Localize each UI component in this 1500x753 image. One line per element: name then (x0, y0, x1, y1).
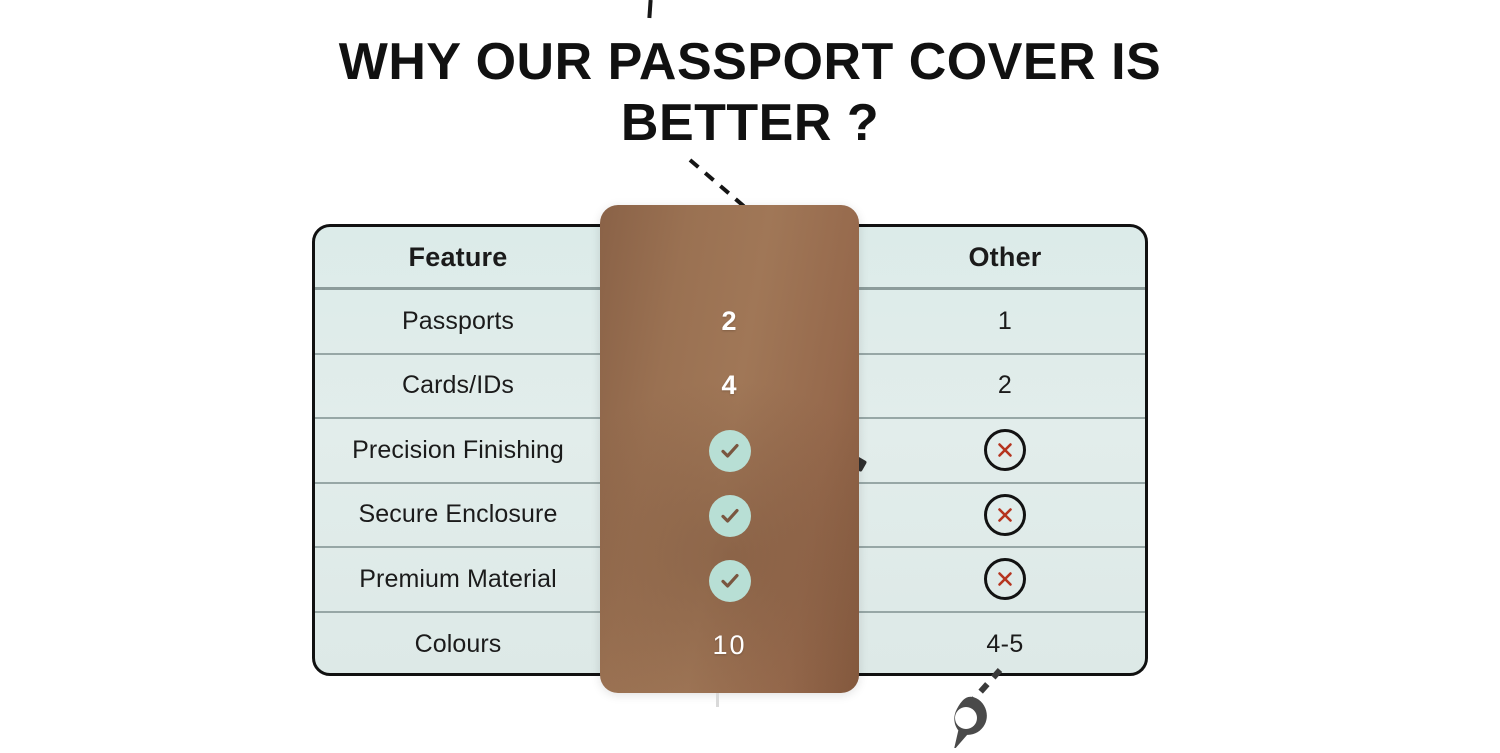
cell-other (865, 419, 1145, 482)
feature-label: Precision Finishing (352, 436, 564, 465)
page-title-line-2: BETTER ? (0, 93, 1500, 154)
header-cell-other: Other (865, 227, 1145, 287)
cell-other: 4-5 (865, 613, 1145, 677)
cell-feature: Cards/IDs (315, 355, 601, 418)
cell-other (865, 548, 1145, 611)
header-label-feature: Feature (409, 242, 508, 273)
feature-label: Premium Material (359, 565, 556, 594)
check-icon (709, 430, 751, 472)
decorative-card-stem (716, 693, 719, 707)
decorative-tick-top (647, 0, 652, 18)
cross-circle-icon (984, 494, 1026, 536)
page-title-line-1: WHY OUR PASSPORT COVER IS (0, 32, 1500, 93)
location-pin-icon (938, 690, 994, 748)
header-cell-feature: Feature (315, 227, 601, 287)
cell-feature: Secure Enclosure (315, 484, 601, 547)
other-value: 4-5 (986, 630, 1023, 659)
page-title: WHY OUR PASSPORT COVER IS BETTER ? (0, 32, 1500, 154)
cross-circle-icon (984, 558, 1026, 600)
cell-other (865, 484, 1145, 547)
feature-label: Colours (415, 630, 502, 659)
overlay-value: 10 (712, 630, 746, 661)
other-value: 1 (998, 307, 1012, 336)
overlay-value-row: 2 (600, 289, 859, 353)
check-icon (709, 560, 751, 602)
overlay-value-row (600, 548, 859, 613)
cell-feature: Premium Material (315, 548, 601, 611)
header-label-other: Other (968, 242, 1041, 273)
cell-feature: Colours (315, 613, 601, 677)
overlay-value-row: 4 (600, 353, 859, 418)
cell-other: 1 (865, 290, 1145, 353)
other-value: 2 (998, 371, 1012, 400)
overlay-value-row: 10 (600, 613, 859, 678)
overlay-value-row (600, 483, 859, 548)
check-icon (709, 495, 751, 537)
cell-other: 2 (865, 355, 1145, 418)
feature-label: Cards/IDs (402, 371, 514, 400)
feature-label: Passports (402, 307, 514, 336)
feature-label: Secure Enclosure (359, 500, 558, 529)
passport-cover-product-image: 2 4 10 (600, 205, 859, 693)
dashed-connector-top (688, 158, 750, 210)
overlay-value-row (600, 418, 859, 483)
overlay-value: 2 (721, 306, 737, 337)
cell-feature: Passports (315, 290, 601, 353)
cross-circle-icon (984, 429, 1026, 471)
overlay-value: 4 (721, 370, 737, 401)
overlay-header-area (600, 205, 859, 289)
cell-feature: Precision Finishing (315, 419, 601, 482)
